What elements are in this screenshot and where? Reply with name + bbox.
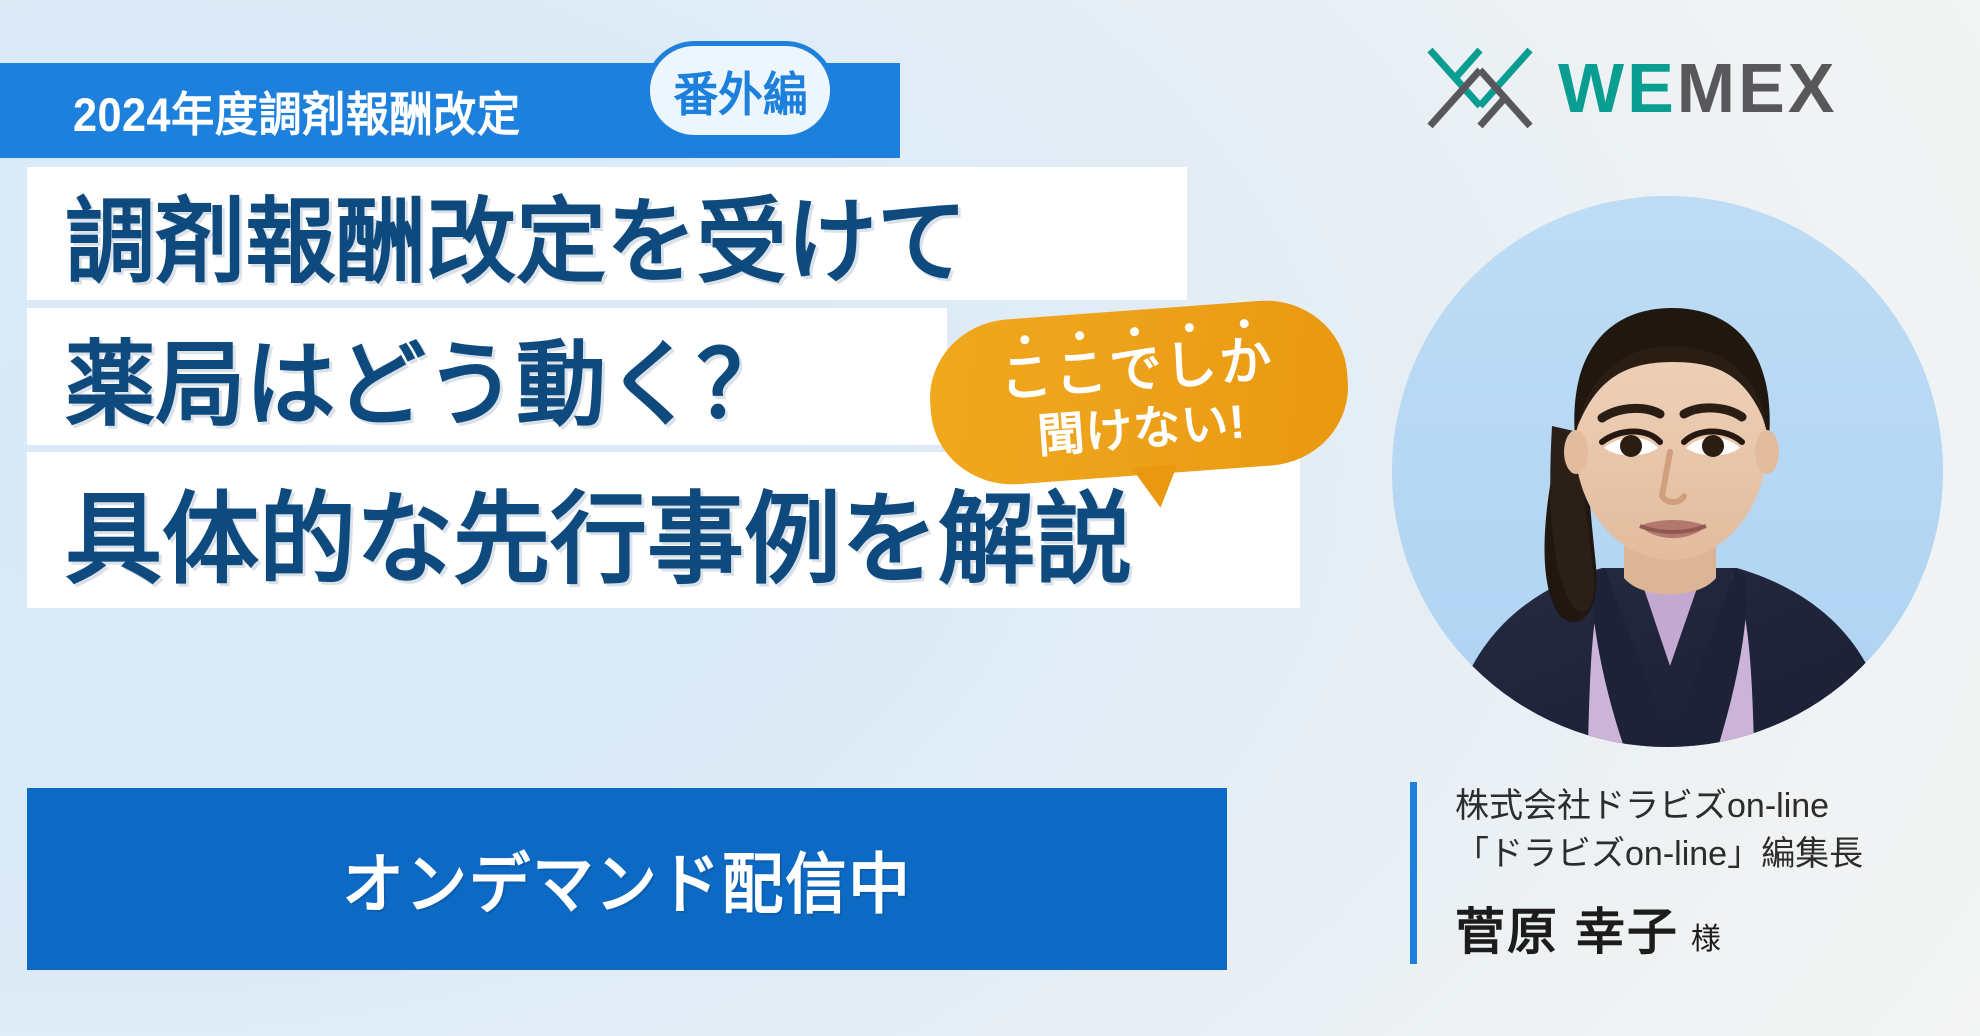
headline-line-2-text: 薬局はどう動く？ xyxy=(65,309,787,444)
headline-line-2: 薬局はどう動く？ xyxy=(27,308,947,445)
speaker-info: 株式会社ドラビズon-line 「ドラビズon-line」編集長 菅原 幸子 様 xyxy=(1410,782,1970,964)
bubble-emphasis-char: で xyxy=(1108,342,1167,398)
speaker-org-line-1: 株式会社ドラビズon-line xyxy=(1455,782,1970,830)
bubble-emphasis-char: こ xyxy=(1053,346,1112,402)
campaign-ribbon-label: 2024年度調剤報酬改定 xyxy=(73,76,521,145)
ondemand-cta-banner[interactable]: オンデマンド配信中 xyxy=(27,788,1227,970)
headline-line-1-text: 調剤報酬改定を受けて xyxy=(65,166,967,301)
speaker-org-line-2: 「ドラビズon-line」編集長 xyxy=(1455,830,1970,878)
campaign-badge-label: 番外編 xyxy=(673,56,807,125)
wemex-x-mark-icon xyxy=(1424,44,1536,132)
speaker-honorific: 様 xyxy=(1691,914,1721,958)
campaign-badge: 番外編 xyxy=(645,41,835,140)
portrait-illustration xyxy=(1392,196,1943,747)
wemex-wordmark-we: WE xyxy=(1558,49,1677,127)
ondemand-cta-label: オンデマンド配信中 xyxy=(342,831,911,927)
speaker-name: 菅原 幸子 xyxy=(1455,892,1679,964)
bubble-text: ここでしか 聞けない! xyxy=(925,295,1354,490)
exclusive-callout-bubble: ここでしか 聞けない! xyxy=(925,295,1354,490)
bubble-text-line-2: 聞けない! xyxy=(1036,397,1248,459)
promo-banner: 2024年度調剤報酬改定 番外編 調剤報酬改定を受けて 薬局はどう動く？ 具体的… xyxy=(0,0,1980,1036)
speaker-portrait xyxy=(1392,196,1943,747)
speaker-name-row: 菅原 幸子 様 xyxy=(1455,892,1970,964)
bubble-emphasis-char: し xyxy=(1163,338,1222,394)
wemex-logo-wordmark: WEMEX xyxy=(1558,53,1837,123)
wemex-logo: WEMEX xyxy=(1424,44,1837,132)
bubble-emphasis-char: こ xyxy=(998,350,1057,406)
bubble-emphasis-char: か xyxy=(1218,334,1277,390)
headline-line-1: 調剤報酬改定を受けて xyxy=(27,167,1187,300)
wemex-wordmark-mex: MEX xyxy=(1677,49,1838,127)
